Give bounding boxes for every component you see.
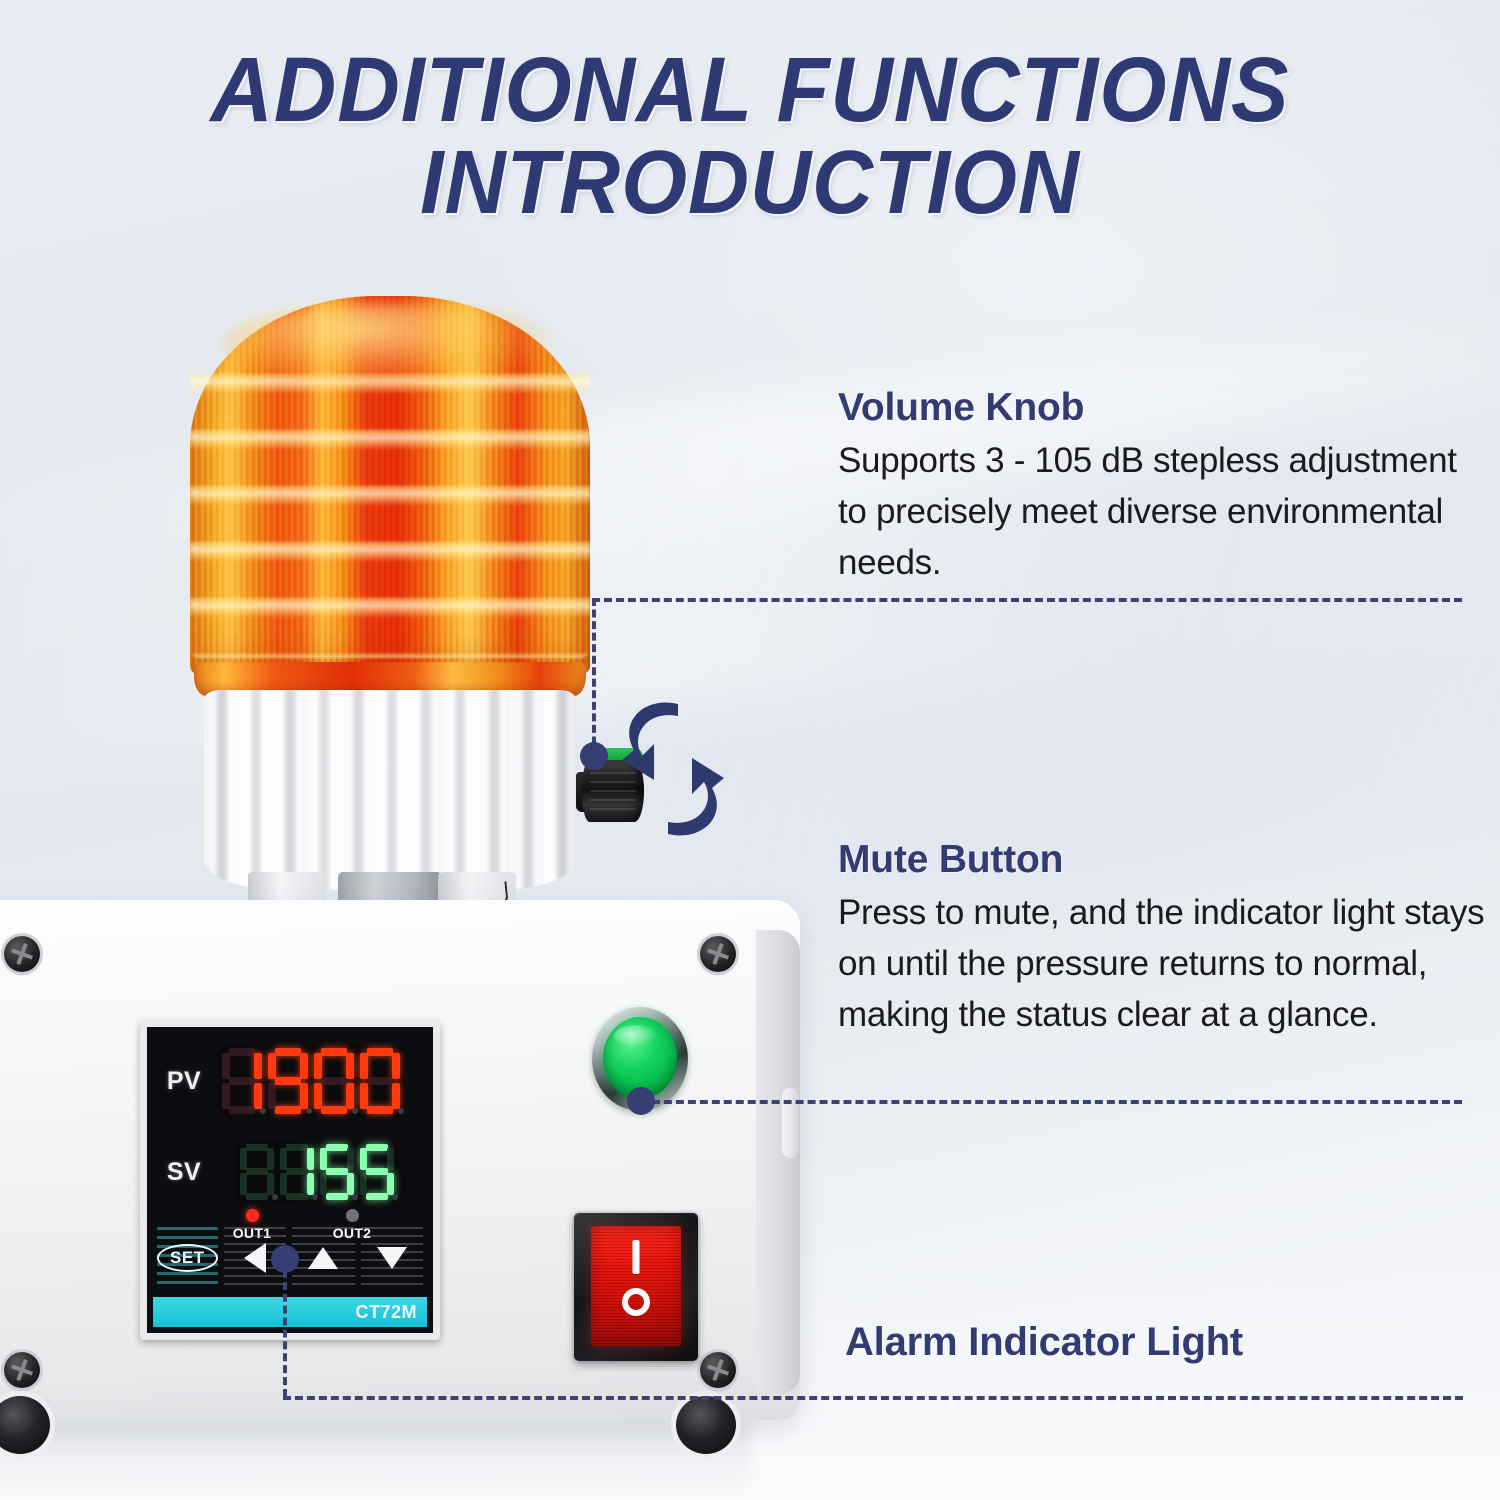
up-button[interactable] — [292, 1227, 354, 1289]
cable-gland-right — [676, 1396, 736, 1454]
controller-brand-bar: CT72M — [153, 1297, 427, 1327]
power-off-symbol-icon — [622, 1288, 650, 1316]
set-button-label: SET — [157, 1244, 218, 1272]
beacon-led-bands — [190, 338, 590, 658]
sv-display — [233, 1139, 401, 1205]
arrow-down-icon — [377, 1247, 407, 1269]
sv-digit-3 — [320, 1144, 354, 1200]
down-button[interactable] — [361, 1227, 423, 1289]
pv-digit-2 — [268, 1048, 308, 1114]
volume-leader-vertical — [592, 598, 596, 756]
enclosure-reflection — [0, 1420, 750, 1500]
callout-mute-heading: Mute Button — [838, 838, 1498, 882]
screw-top-left — [4, 936, 40, 972]
screw-top-right — [700, 936, 736, 972]
out1-led-icon — [246, 1209, 259, 1222]
pv-digit-1 — [222, 1048, 262, 1114]
pv-row: PV — [153, 1043, 407, 1119]
mute-button-highlight — [614, 1025, 658, 1047]
volume-leader-horizontal — [592, 598, 1462, 602]
infographic-canvas: ADDITIONAL FUNCTIONS INTRODUCTION — [0, 0, 1500, 1500]
arrow-up-icon — [308, 1247, 338, 1269]
callout-volume-knob: Volume Knob Supports 3 - 105 dB stepless… — [838, 386, 1478, 588]
mute-leader-horizontal — [640, 1100, 1462, 1104]
rotation-arrows-icon — [620, 694, 726, 844]
pv-display — [215, 1043, 407, 1119]
callout-alarm-heading: Alarm Indicator Light — [845, 1320, 1485, 1365]
page-title-line-1: ADDITIONAL FUNCTIONS — [45, 44, 1455, 138]
beacon-base-housing — [204, 690, 576, 890]
controller-model-label: CT72M — [355, 1302, 417, 1323]
alarm-beacon-light — [190, 296, 590, 916]
callout-volume-body: Supports 3 - 105 dB stepless adjustment … — [838, 436, 1478, 588]
page-title-line-2: INTRODUCTION — [45, 138, 1455, 230]
rocker-face — [591, 1226, 681, 1346]
mute-leader-dot — [627, 1087, 655, 1115]
page-title: ADDITIONAL FUNCTIONS INTRODUCTION — [45, 44, 1455, 230]
alarm-leader-vertical — [283, 1258, 287, 1397]
power-on-symbol-icon — [633, 1240, 640, 1274]
sv-digit-2 — [280, 1144, 314, 1200]
alarm-leader-dot — [271, 1245, 299, 1273]
arrow-left-icon — [244, 1243, 266, 1273]
sv-label: SV — [153, 1158, 215, 1187]
beacon-top-highlight — [224, 302, 554, 386]
callout-mute-button: Mute Button Press to mute, and the indic… — [838, 838, 1498, 1040]
sv-row: SV — [153, 1139, 401, 1205]
power-rocker-switch[interactable] — [574, 1213, 698, 1361]
pv-label: PV — [153, 1067, 215, 1096]
callout-volume-heading: Volume Knob — [838, 386, 1478, 430]
enclosure-right-face — [756, 930, 800, 1394]
volume-leader-dot — [580, 742, 608, 770]
beacon-base-fluting — [204, 690, 576, 890]
alarm-leader-horizontal — [283, 1396, 1463, 1400]
callout-alarm-indicator-light: Alarm Indicator Light — [845, 1320, 1485, 1365]
controller-faceplate: PV — [147, 1027, 433, 1333]
screw-bottom-left — [4, 1352, 40, 1388]
out2-led-icon — [346, 1209, 359, 1222]
set-button[interactable]: SET — [157, 1227, 218, 1289]
enclosure-latch — [782, 1088, 798, 1158]
sv-digit-4 — [360, 1144, 394, 1200]
pv-digit-4 — [360, 1048, 400, 1114]
callout-mute-body: Press to mute, and the indicator light s… — [838, 888, 1498, 1040]
screw-bottom-right — [700, 1352, 736, 1388]
beacon-dome — [190, 296, 590, 676]
temperature-controller: PV — [140, 1020, 440, 1340]
pv-digit-3 — [314, 1048, 354, 1114]
sv-digit-1 — [240, 1144, 274, 1200]
